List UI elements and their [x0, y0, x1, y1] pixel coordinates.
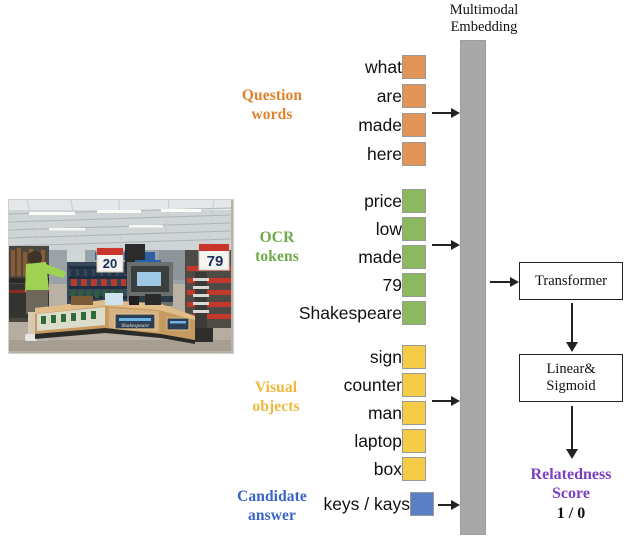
token-label: are [377, 86, 402, 106]
embedding-box-ocr-2 [402, 245, 426, 269]
token-row-question-1: are [240, 84, 436, 110]
embedding-box-question-2 [402, 113, 426, 137]
token-label: here [367, 144, 402, 164]
token-label: what [365, 57, 402, 77]
token-row-ocr-3: 79 [240, 273, 436, 299]
token-label: box [374, 459, 402, 479]
multimodal-embedding-bar [460, 40, 486, 535]
token-row-visual-0: sign [240, 345, 436, 371]
multimodal-embedding-title-line1: Multimodal [428, 2, 540, 19]
transformer-label: Transformer [535, 273, 607, 290]
photo-price-sign-79: 79 [199, 244, 229, 270]
figure-canvas: 20 79 [0, 0, 628, 539]
token-label: low [376, 219, 402, 239]
linear-sigmoid-block: Linear& Sigmoid [519, 354, 623, 402]
multimodal-embedding-title-line2: Embedding [428, 19, 540, 36]
token-label: keys / kays [323, 494, 410, 514]
embedding-box-visual-3 [402, 429, 426, 453]
token-row-ocr-1: low [240, 217, 436, 243]
svg-text:79: 79 [207, 253, 224, 270]
token-label: price [364, 191, 402, 211]
embedding-box-question-3 [402, 142, 426, 166]
embedding-box-candidate-0 [410, 492, 434, 516]
embedding-box-question-0 [402, 55, 426, 79]
token-row-ocr-2: made [240, 245, 436, 271]
token-row-ocr-0: price [240, 189, 436, 215]
token-label: Shakespeare [299, 303, 402, 323]
relatedness-score-label: Relatedness Score [514, 465, 628, 503]
token-label: made [358, 115, 402, 135]
linear-sigmoid-label-line1: Linear& [546, 361, 595, 378]
multimodal-embedding-title: Multimodal Embedding [428, 2, 540, 36]
token-row-ocr-4: Shakespeare [240, 301, 436, 327]
token-row-visual-3: laptop [240, 429, 436, 455]
input-image-photo: 20 79 [8, 199, 234, 354]
token-row-visual-1: counter [240, 373, 436, 399]
embedding-box-ocr-4 [402, 301, 426, 325]
token-label: counter [344, 375, 402, 395]
token-label: made [358, 247, 402, 267]
token-row-visual-4: box [240, 457, 436, 483]
embedding-box-visual-0 [402, 345, 426, 369]
embedding-box-ocr-1 [402, 217, 426, 241]
embedding-box-question-1 [402, 84, 426, 108]
relatedness-score-value: 1 / 0 [514, 505, 628, 523]
token-label: laptop [354, 431, 402, 451]
token-row-question-3: here [240, 142, 436, 168]
embedding-box-visual-4 [402, 457, 426, 481]
token-row-candidate-0: keys / kays [240, 492, 436, 518]
embedding-box-ocr-3 [402, 273, 426, 297]
token-label: man [368, 403, 402, 423]
token-row-question-0: what [240, 55, 436, 81]
embedding-box-visual-2 [402, 401, 426, 425]
embedding-box-ocr-0 [402, 189, 426, 213]
relatedness-score-label-line2: Score [514, 484, 628, 503]
linear-sigmoid-label-line2: Sigmoid [546, 378, 595, 395]
token-row-visual-2: man [240, 401, 436, 427]
photo-price-sign-20: 20 [97, 248, 123, 272]
svg-text:20: 20 [103, 256, 117, 271]
photo-counter-brand-plaque: Shakespeare [115, 314, 155, 329]
embedding-box-visual-1 [402, 373, 426, 397]
token-label: sign [370, 347, 402, 367]
svg-text:Shakespeare: Shakespeare [121, 323, 149, 329]
token-label: 79 [383, 275, 402, 295]
token-row-question-2: made [240, 113, 436, 139]
relatedness-score-label-line1: Relatedness [514, 465, 628, 484]
transformer-block: Transformer [519, 262, 623, 300]
